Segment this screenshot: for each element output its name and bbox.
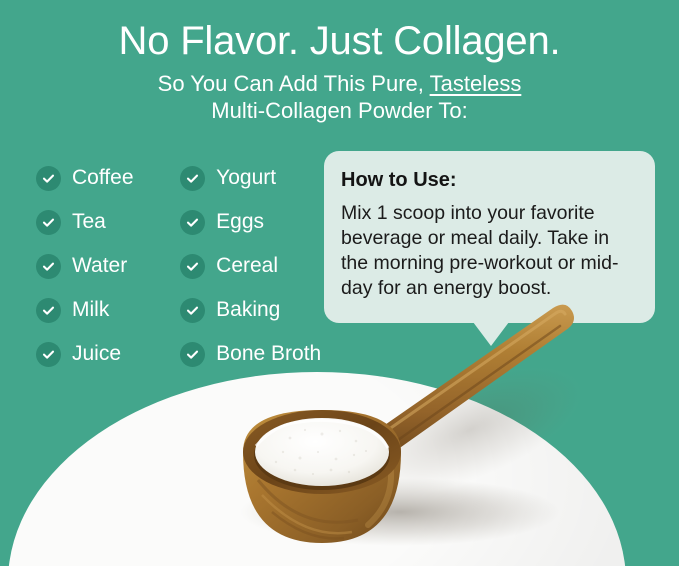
subtitle-line2: Multi-Collagen Powder To: [211, 98, 467, 123]
list-item: Coffee [36, 156, 180, 200]
check-circle-icon [180, 342, 205, 367]
list-item: Water [36, 244, 180, 288]
page-title: No Flavor. Just Collagen. [0, 18, 679, 64]
check-circle-icon [180, 210, 205, 235]
list-item: Eggs [180, 200, 336, 244]
list-item-label: Tea [72, 210, 106, 234]
subtitle: So You Can Add This Pure, Tasteless Mult… [0, 70, 679, 124]
list-item-label: Coffee [72, 166, 134, 190]
callout-title: How to Use: [341, 167, 638, 193]
checklist-column-2: Yogurt Eggs Cereal Baking [180, 156, 336, 376]
check-circle-icon [180, 298, 205, 323]
list-item: Juice [36, 332, 180, 376]
list-item: Tea [36, 200, 180, 244]
subtitle-line1: So You Can Add This Pure, Tasteless [158, 71, 522, 96]
check-circle-icon [180, 254, 205, 279]
list-item: Yogurt [180, 156, 336, 200]
list-item-label: Yogurt [216, 166, 276, 190]
list-item-label: Bone Broth [216, 342, 321, 366]
list-item: Baking [180, 288, 336, 332]
how-to-use-callout: How to Use: Mix 1 scoop into your favori… [324, 151, 655, 323]
list-item: Bone Broth [180, 332, 336, 376]
list-item-label: Water [72, 254, 127, 278]
check-circle-icon [36, 254, 61, 279]
check-circle-icon [36, 166, 61, 191]
list-item-label: Cereal [216, 254, 278, 278]
list-item: Cereal [180, 244, 336, 288]
check-circle-icon [36, 210, 61, 235]
usage-checklist: Coffee Tea Water Milk [36, 156, 336, 376]
subtitle-line1-text: So You Can Add This Pure, [158, 71, 430, 96]
list-item-label: Milk [72, 298, 109, 322]
product-infographic: No Flavor. Just Collagen. So You Can Add… [0, 0, 679, 566]
list-item-label: Juice [72, 342, 121, 366]
table-surface-shading [8, 372, 626, 566]
list-item: Milk [36, 288, 180, 332]
callout-tail [473, 322, 509, 346]
checklist-column-1: Coffee Tea Water Milk [36, 156, 180, 376]
callout-body: Mix 1 scoop into your favorite beverage … [341, 201, 638, 301]
list-item-label: Eggs [216, 210, 264, 234]
check-circle-icon [36, 298, 61, 323]
check-circle-icon [36, 342, 61, 367]
check-circle-icon [180, 166, 205, 191]
subtitle-underlined-word: Tasteless [430, 71, 522, 96]
list-item-label: Baking [216, 298, 280, 322]
